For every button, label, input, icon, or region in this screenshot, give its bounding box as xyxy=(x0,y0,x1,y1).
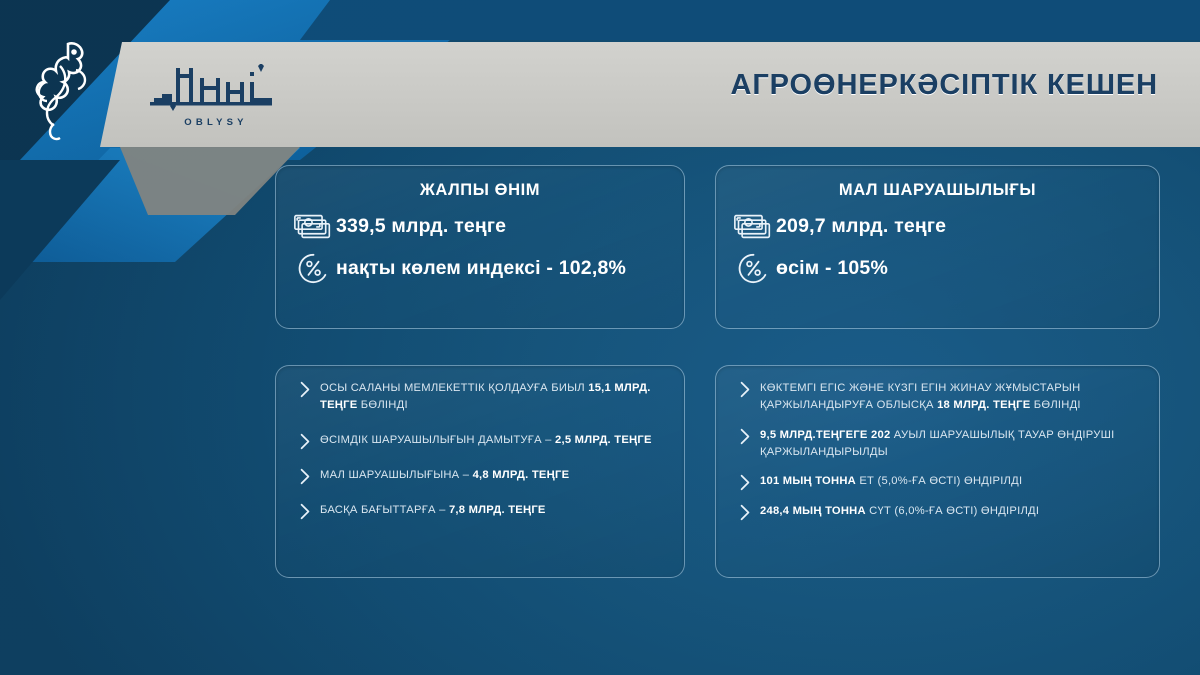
list-item: ОСЫ САЛАНЫ МЕМЛЕКЕТТІК ҚОЛДАУҒА БИЫЛ 15,… xyxy=(290,380,666,415)
list-item: БАСҚА БАҒЫТТАРҒА – 7,8 МЛРД. ТЕҢГЕ xyxy=(290,502,666,520)
banknotes-icon xyxy=(290,212,336,241)
list-item-text: БАСҚА БАҒЫТТАРҒА – 7,8 МЛРД. ТЕҢГЕ xyxy=(320,502,546,519)
stat-value: 339,5 млрд. теңге xyxy=(336,215,506,238)
chevron-right-icon xyxy=(290,502,320,520)
snow-leopard-emblem-icon xyxy=(24,36,96,144)
list-item-text: ОСЫ САЛАНЫ МЕМЛЕКЕТТІК ҚОЛДАУҒА БИЫЛ 15,… xyxy=(320,380,666,415)
list-item-text: 101 МЫҢ ТОННА ЕТ (5,0%-ҒА ӨСТІ) ӨНДІРІЛД… xyxy=(760,473,1022,490)
card-title-livestock: МАЛ ШАРУАШЫЛЫҒЫ xyxy=(716,181,1159,200)
list-item: 248,4 МЫҢ ТОННА СҮТ (6,0%-ҒА ӨСТІ) ӨНДІР… xyxy=(730,503,1141,521)
percent-circle-icon xyxy=(730,253,776,284)
list-item: КӨКТЕМГІ ЕГІС ЖӘНЕ КҮЗГІ ЕГІН ЖИНАУ ЖҰМЫ… xyxy=(730,380,1141,415)
list-item: 9,5 МЛРД.ТЕҢГЕГЕ 202 АУЫЛ ШАРУАШЫЛЫҚ ТАУ… xyxy=(730,427,1141,462)
stat-row: 209,7 млрд. теңге xyxy=(716,212,1159,241)
chevron-right-icon xyxy=(730,380,760,398)
stat-row: 339,5 млрд. теңге xyxy=(276,212,684,241)
stat-value: нақты көлем индексі - 102,8% xyxy=(336,257,626,280)
percent-circle-icon xyxy=(290,253,336,284)
abai-logo-subtitle: OBLYSY xyxy=(152,117,280,128)
stat-value: өсім - 105% xyxy=(776,257,888,280)
page-title: АГРОӨНЕРКӘСІПТІК КЕШЕН xyxy=(731,69,1159,102)
card-livestock: МАЛ ШАРУАШЫЛЫҒЫ 209,7 млрд. теңге xyxy=(715,165,1160,329)
bullet-list: КӨКТЕМГІ ЕГІС ЖӘНЕ КҮЗГІ ЕГІН ЖИНАУ ЖҰМЫ… xyxy=(716,366,1159,521)
stat-value: 209,7 млрд. теңге xyxy=(776,215,946,238)
banknotes-icon xyxy=(730,212,776,241)
stat-row: нақты көлем индексі - 102,8% xyxy=(276,253,684,284)
list-item-text: 248,4 МЫҢ ТОННА СҮТ (6,0%-ҒА ӨСТІ) ӨНДІР… xyxy=(760,503,1039,520)
chevron-right-icon xyxy=(290,467,320,485)
list-item-text: ӨСІМДІК ШАРУАШЫЛЫҒЫН ДАМЫТУҒА – 2,5 МЛРД… xyxy=(320,432,652,449)
card-gross-output: ЖАЛПЫ ӨНІМ 339,5 млрд. теңге xyxy=(275,165,685,329)
chevron-right-icon xyxy=(730,473,760,491)
list-item: ӨСІМДІК ШАРУАШЫЛЫҒЫН ДАМЫТУҒА – 2,5 МЛРД… xyxy=(290,432,666,450)
card-financing-production: КӨКТЕМГІ ЕГІС ЖӘНЕ КҮЗГІ ЕГІН ЖИНАУ ЖҰМЫ… xyxy=(715,365,1160,578)
bullet-list: ОСЫ САЛАНЫ МЕМЛЕКЕТТІК ҚОЛДАУҒА БИЫЛ 15,… xyxy=(276,366,684,520)
chevron-right-icon xyxy=(730,427,760,445)
chevron-right-icon xyxy=(290,432,320,450)
list-item-text: 9,5 МЛРД.ТЕҢГЕГЕ 202 АУЫЛ ШАРУАШЫЛЫҚ ТАУ… xyxy=(760,427,1141,462)
list-item-text: КӨКТЕМГІ ЕГІС ЖӘНЕ КҮЗГІ ЕГІН ЖИНАУ ЖҰМЫ… xyxy=(760,380,1141,415)
chevron-right-icon xyxy=(730,503,760,521)
list-item-text: МАЛ ШАРУАШЫЛЫҒЫНА – 4,8 МЛРД. ТЕҢГЕ xyxy=(320,467,569,484)
card-state-support: ОСЫ САЛАНЫ МЕМЛЕКЕТТІК ҚОЛДАУҒА БИЫЛ 15,… xyxy=(275,365,685,578)
chevron-right-icon xyxy=(290,380,320,398)
card-title-gross-output: ЖАЛПЫ ӨНІМ xyxy=(276,181,684,200)
stat-row: өсім - 105% xyxy=(716,253,1159,284)
slide-root: OBLYSY АГРОӨНЕРКӘСІПТІК КЕШЕН ЖАЛПЫ ӨНІМ xyxy=(0,0,1200,675)
list-item: 101 МЫҢ ТОННА ЕТ (5,0%-ҒА ӨСТІ) ӨНДІРІЛД… xyxy=(730,473,1141,491)
list-item: МАЛ ШАРУАШЫЛЫҒЫНА – 4,8 МЛРД. ТЕҢГЕ xyxy=(290,467,666,485)
abai-logo-icon xyxy=(150,64,280,122)
